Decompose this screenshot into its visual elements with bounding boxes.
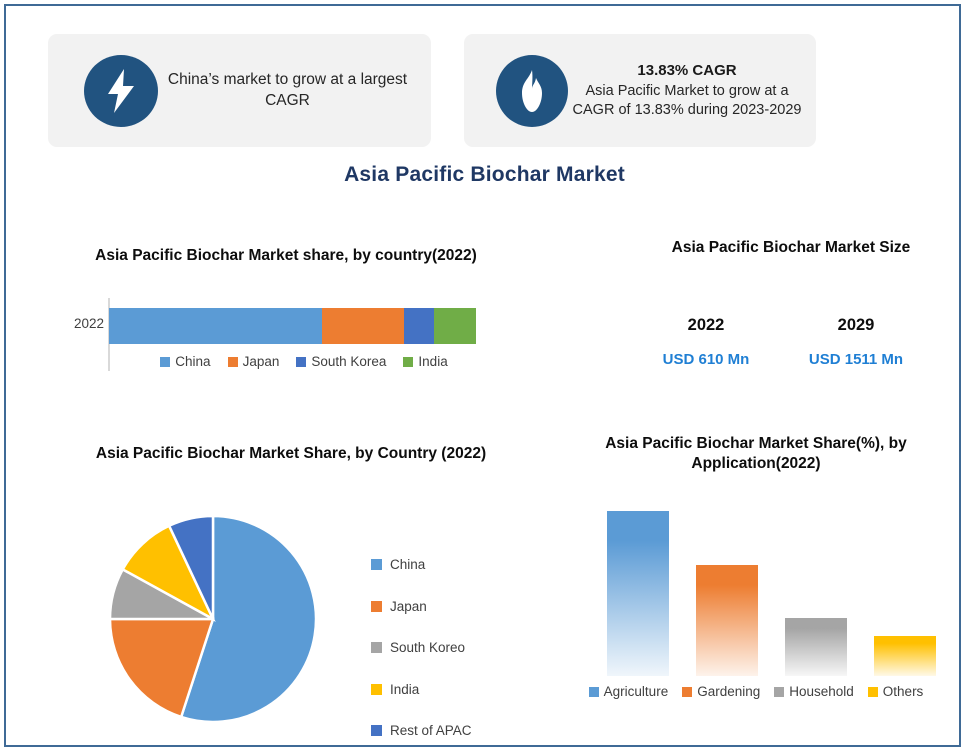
legend-item-rest-of-apac: Rest of APAC (371, 710, 516, 752)
pie-chart-title: Asia Pacific Biochar Market Share, by Co… (91, 444, 491, 464)
legend-swatch-icon (682, 687, 692, 697)
application-bar-plot-area (594, 511, 949, 676)
legend-swatch-icon (774, 687, 784, 697)
market-size-value-2022: USD 610 Mn (631, 351, 781, 368)
legend-label: Rest of APAC (390, 723, 472, 738)
legend-swatch-icon (371, 559, 382, 570)
pie-chart-graphic (108, 514, 318, 724)
market-size-panel: Asia Pacific Biochar Market Size 2022 US… (626, 238, 956, 383)
legend-label: China (175, 354, 210, 369)
legend-item-japan: Japan (371, 586, 516, 628)
legend-item-india: India (371, 669, 516, 711)
legend-item-china: China (160, 354, 210, 369)
legend-swatch-icon (160, 357, 170, 367)
legend-item-agriculture: Agriculture (589, 684, 669, 699)
legend-swatch-icon (371, 684, 382, 695)
application-bar-chart: Asia Pacific Biochar Market Share(%), by… (546, 426, 966, 716)
legend-item-china: China (371, 544, 516, 586)
lightning-bolt-icon (84, 55, 158, 127)
legend-label: India (390, 682, 419, 697)
highlight-card-cagr-text: 13.83% CAGR Asia Pacific Market to grow … (568, 61, 806, 119)
bar-gardening (696, 565, 758, 676)
stacked-bar-chart-title: Asia Pacific Biochar Market share, by co… (86, 246, 486, 266)
legend-item-others: Others (868, 684, 924, 699)
legend-swatch-icon (296, 357, 306, 367)
legend-swatch-icon (228, 357, 238, 367)
bar-agriculture (607, 511, 669, 676)
legend-label: Gardening (697, 684, 760, 699)
highlight-card-cagr: 13.83% CAGR Asia Pacific Market to grow … (464, 34, 816, 147)
stacked-bar-segment-china (109, 308, 322, 344)
legend-swatch-icon (371, 725, 382, 736)
highlight-card-china-text: China’s market to grow at a largest CAGR (158, 70, 417, 110)
legend-item-japan: Japan (228, 354, 280, 369)
page-title: Asia Pacific Biochar Market (6, 163, 963, 187)
flame-icon (496, 55, 568, 127)
legend-label: South Koreo (390, 640, 465, 655)
legend-item-india: India (403, 354, 447, 369)
legend-label: Japan (390, 599, 427, 614)
infographic-frame: China’s market to grow at a largest CAGR… (4, 4, 961, 747)
cagr-heading: 13.83% CAGR (570, 61, 804, 81)
pie-chart: Asia Pacific Biochar Market Share, by Co… (66, 436, 516, 741)
legend-label: Japan (243, 354, 280, 369)
market-size-year-2029: 2029 (781, 316, 931, 335)
legend-label: Household (789, 684, 854, 699)
legend-label: China (390, 557, 425, 572)
market-size-year-2022: 2022 (631, 316, 781, 335)
legend-item-household: Household (774, 684, 854, 699)
stacked-bar-category-label: 2022 (46, 316, 104, 331)
stacked-bar-segment-south-korea (404, 308, 434, 344)
highlight-card-china: China’s market to grow at a largest CAGR (48, 34, 431, 147)
pie-chart-legend: ChinaJapanSouth KoreoIndiaRest of APAC (371, 544, 516, 752)
application-bar-chart-title: Asia Pacific Biochar Market Share(%), by… (566, 434, 946, 474)
legend-item-south-koreo: South Koreo (371, 627, 516, 669)
market-size-title: Asia Pacific Biochar Market Size (626, 238, 956, 258)
legend-item-south-korea: South Korea (296, 354, 386, 369)
cagr-description: Asia Pacific Market to grow at a CAGR of… (573, 83, 802, 118)
stacked-bar-series-container (109, 308, 476, 344)
legend-item-gardening: Gardening (682, 684, 760, 699)
market-size-value-2029: USD 1511 Mn (781, 351, 931, 368)
bar-household (785, 618, 847, 676)
stacked-bar-segment-india (434, 308, 476, 344)
legend-swatch-icon (868, 687, 878, 697)
stacked-bar-legend: ChinaJapanSouth KoreaIndia (109, 354, 499, 369)
stacked-bar-segment-japan (322, 308, 404, 344)
legend-swatch-icon (371, 642, 382, 653)
legend-label: Others (883, 684, 924, 699)
legend-label: India (418, 354, 447, 369)
market-size-column-2022: 2022 USD 610 Mn (631, 316, 781, 368)
legend-label: Agriculture (604, 684, 669, 699)
market-size-column-2029: 2029 USD 1511 Mn (781, 316, 931, 368)
legend-swatch-icon (589, 687, 599, 697)
legend-label: South Korea (311, 354, 386, 369)
bar-others (874, 636, 936, 676)
legend-swatch-icon (371, 601, 382, 612)
application-bar-legend: AgricultureGardeningHouseholdOthers (561, 684, 951, 699)
stacked-bar-chart: Asia Pacific Biochar Market share, by co… (36, 246, 496, 381)
legend-swatch-icon (403, 357, 413, 367)
